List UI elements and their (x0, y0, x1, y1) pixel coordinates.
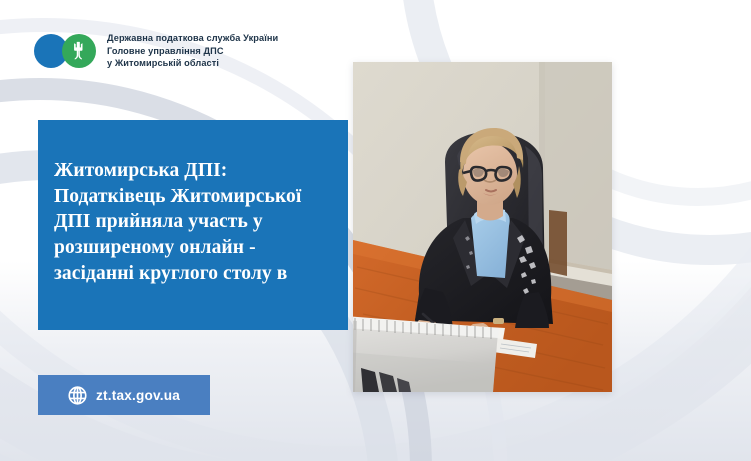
globe-icon (68, 386, 87, 405)
organisation-name: Державна податкова служба України Головн… (107, 33, 278, 69)
organisation-line-2: Головне управління ДПС (107, 46, 278, 58)
website-url-label: zt.tax.gov.ua (96, 388, 180, 403)
page-title: Житомирська ДПІ: Податківець Житомирсько… (54, 158, 332, 286)
poster-canvas: Державна податкова служба України Головн… (0, 0, 751, 461)
website-url-badge[interactable]: zt.tax.gov.ua (38, 375, 210, 415)
headline-card: Житомирська ДПІ: Податківець Житомирсько… (38, 120, 348, 330)
organisation-line-3: у Житомирській області (107, 58, 278, 70)
organisation-header: Державна податкова служба України Головн… (34, 33, 278, 69)
logo-mark (34, 34, 96, 68)
organisation-line-1: Державна податкова служба України (107, 33, 278, 45)
trident-emblem-icon (62, 34, 96, 68)
article-photo (353, 62, 612, 392)
